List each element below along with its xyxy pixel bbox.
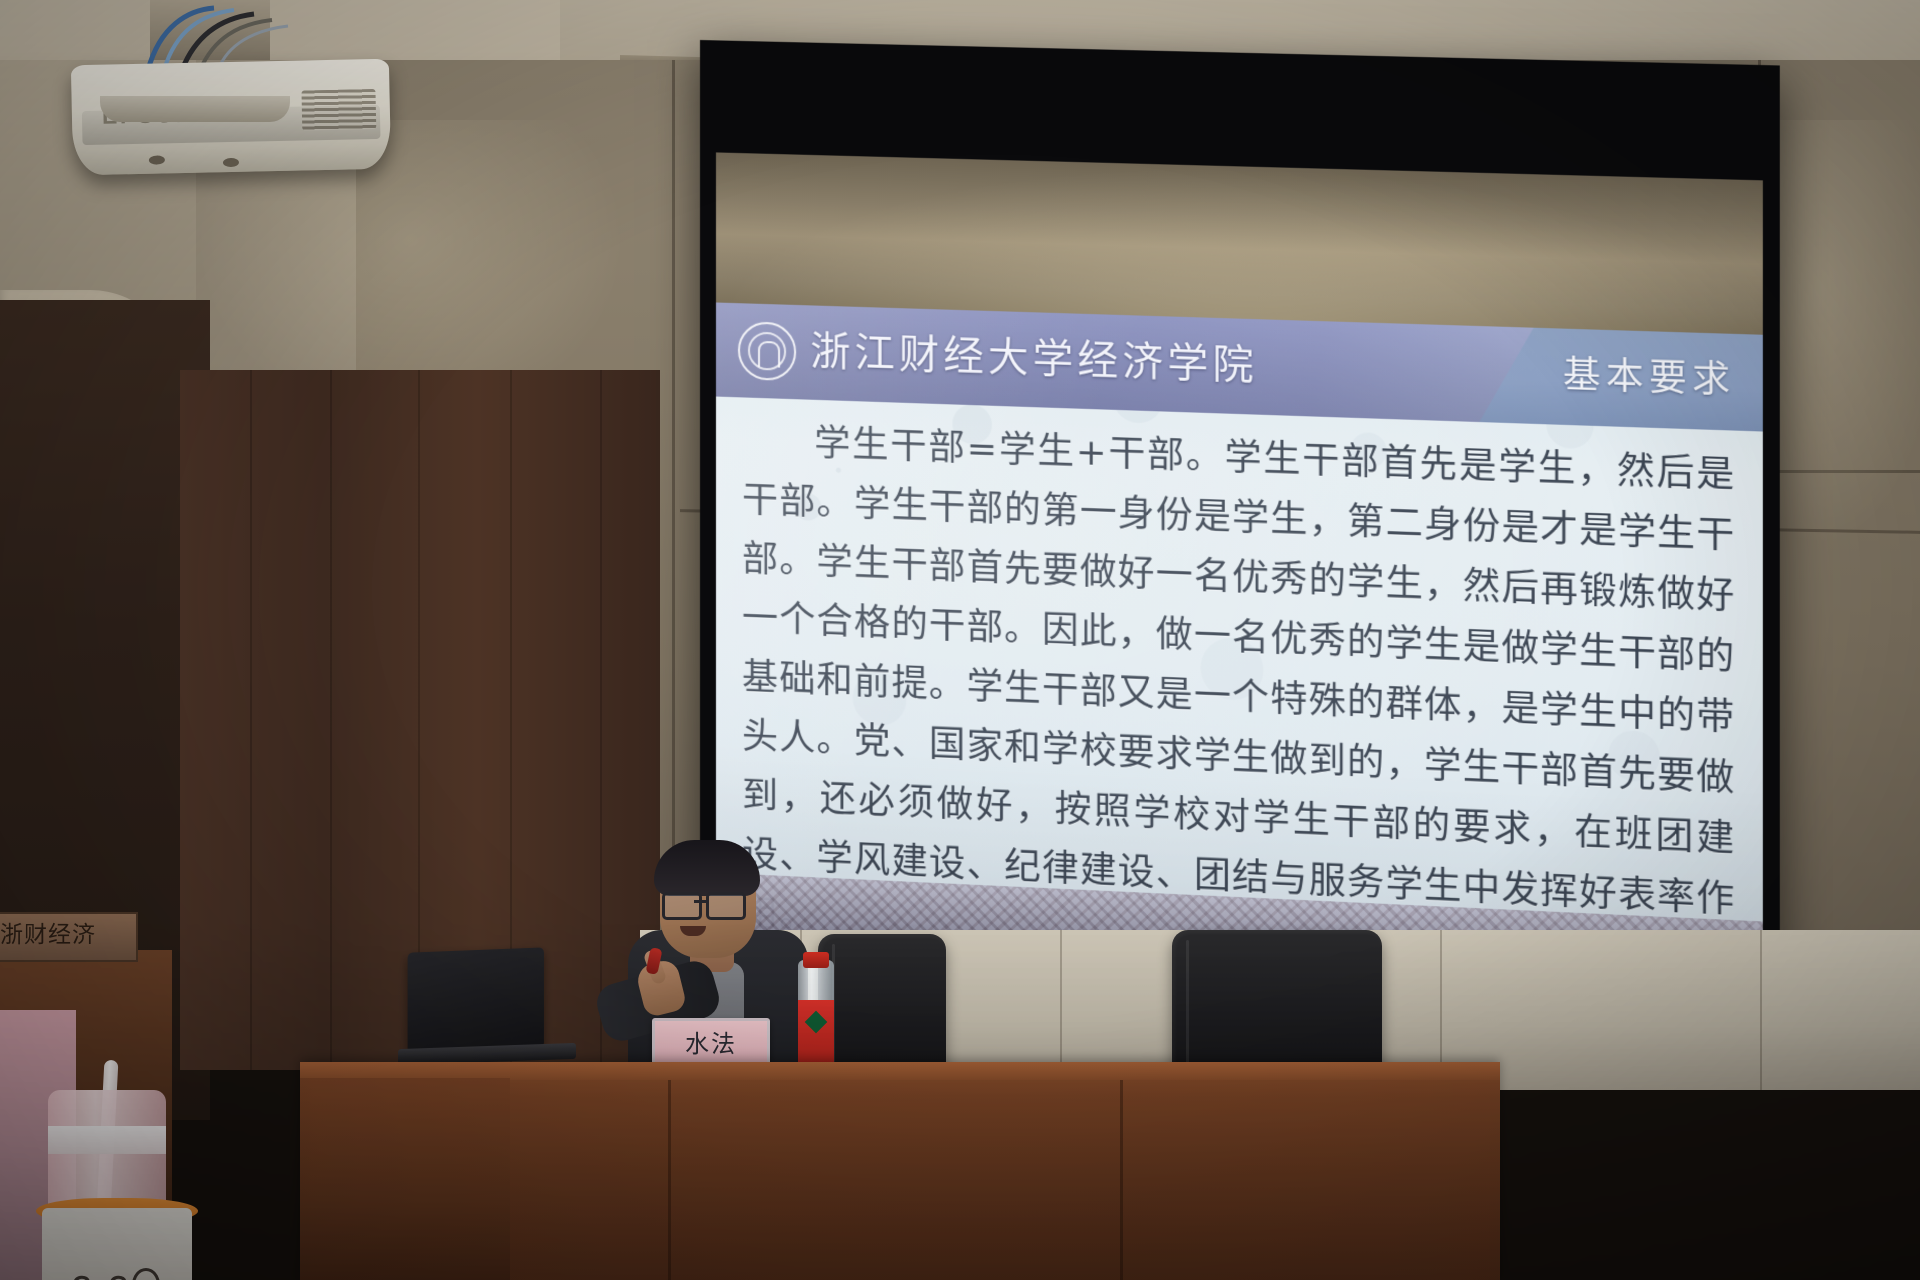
eyeglasses-bridge <box>694 900 706 903</box>
tumbler-band <box>48 1126 166 1154</box>
projector-lens-housing <box>100 96 290 122</box>
university-seal-icon <box>738 321 796 381</box>
eyeglasses-icon <box>662 892 702 920</box>
slide-institution-name: 浙江财经大学经济学院 <box>810 321 1258 396</box>
desk-left-panel <box>300 1078 510 1280</box>
presentation-slide: 浙江财经大学经济学院 基本要求 学生干部=学生+干部。学生干部首先是学生，然后是… <box>716 302 1763 981</box>
wall-seam <box>1760 470 1920 473</box>
podium-sign: 浙财经济 <box>0 912 138 962</box>
lecture-hall-scene: EPSON 浙江财经大学经济学院 基本要求 学生干部=学生+干部。学生干部首先是… <box>0 0 1920 1280</box>
projection-screen-surface: 浙江财经大学经济学院 基本要求 学生干部=学生+干部。学生干部首先是学生，然后是… <box>716 152 1763 981</box>
eyeglasses-icon <box>706 892 746 920</box>
slide-section-badge-label: 基本要求 <box>1563 347 1735 410</box>
water-bottle-cap <box>803 952 829 968</box>
projector-vent <box>301 89 376 131</box>
presenter-hair <box>654 840 760 896</box>
projection-screen-frame: 浙江财经大学经济学院 基本要求 学生干部=学生+干部。学生干部首先是学生，然后是… <box>700 40 1780 997</box>
wall-seam <box>672 60 675 940</box>
podium-sign-text: 浙财经济 <box>0 916 96 954</box>
